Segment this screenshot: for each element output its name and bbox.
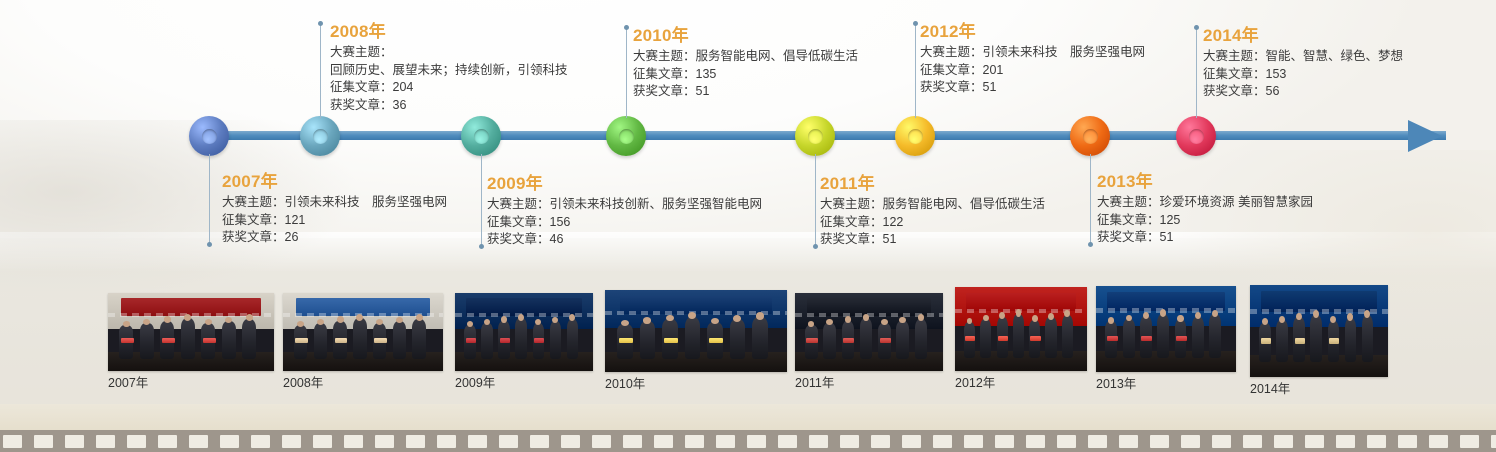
photo-certificate xyxy=(965,336,975,341)
photo-person xyxy=(412,319,426,359)
film-perforation xyxy=(1336,435,1355,448)
photo-certificate xyxy=(1295,338,1306,344)
photo-person xyxy=(1045,317,1056,357)
photo-people-group xyxy=(115,313,268,358)
entry-submission-count: 征集文章：204 xyxy=(330,79,568,97)
photo-person xyxy=(353,318,367,358)
timeline-entry-2008: 2008年大赛主题：回顾历史、展望未来；持续创新，引领科技征集文章：204获奖文… xyxy=(330,22,568,114)
film-perforation xyxy=(809,435,828,448)
timeline-entry-2009: 2009年大赛主题：引领未来科技创新、服务坚强智能电网征集文章：156获奖文章：… xyxy=(487,174,762,249)
entry-award-count: 获奖文章：51 xyxy=(920,79,1145,97)
film-perforation xyxy=(65,435,84,448)
photo-person xyxy=(1276,320,1288,362)
entry-year-label: 2014年 xyxy=(1203,26,1403,46)
timeline-node-2011[interactable] xyxy=(795,116,835,156)
gallery-caption: 2009年 xyxy=(455,376,593,391)
gallery-photo[interactable] xyxy=(1250,285,1388,377)
gallery-item-2014[interactable]: 2014年 xyxy=(1250,285,1388,397)
timeline-infographic: 2007年大赛主题：引领未来科技 服务坚强电网征集文章：121获奖文章：2620… xyxy=(0,0,1496,452)
film-perforation xyxy=(375,435,394,448)
leader-endpoint-dot xyxy=(479,244,484,249)
entry-theme-text: 大赛主题：智能、智慧、绿色、梦想 xyxy=(1203,48,1403,66)
film-perforation xyxy=(251,435,270,448)
photo-person xyxy=(1345,318,1357,362)
photo-certificate xyxy=(162,338,175,343)
entry-submission-count: 征集文章：201 xyxy=(920,62,1145,80)
photo-certificate xyxy=(1030,336,1040,341)
entry-theme-text: 大赛主题：引领未来科技 服务坚强电网 xyxy=(920,44,1145,62)
photo-person xyxy=(1157,314,1169,358)
film-perforation xyxy=(995,435,1014,448)
entry-year-label: 2010年 xyxy=(633,26,858,46)
film-perforation xyxy=(747,435,766,448)
timeline-node-2009[interactable] xyxy=(461,116,501,156)
gallery-photo[interactable] xyxy=(955,287,1087,371)
photo-person xyxy=(730,319,745,358)
timeline-node-2008[interactable] xyxy=(300,116,340,156)
timeline-entry-2010: 2010年大赛主题：服务智能电网、倡导低碳生活征集文章：135获奖文章：51 xyxy=(633,26,858,101)
photo-person xyxy=(752,317,767,359)
film-perforation xyxy=(964,435,983,448)
timeline-node-hole xyxy=(202,129,217,144)
timeline-node-2014[interactable] xyxy=(1176,116,1216,156)
photo-people-group xyxy=(960,309,1081,358)
timeline-entry-2014: 2014年大赛主题：智能、智慧、绿色、梦想征集文章：153获奖文章：56 xyxy=(1203,26,1403,101)
timeline-entry-2011: 2011年大赛主题：服务智能电网、倡导低碳生活征集文章：122获奖文章：51 xyxy=(820,174,1045,249)
timeline-entry-2007: 2007年大赛主题：引领未来科技 服务坚强电网征集文章：121获奖文章：26 xyxy=(222,172,447,247)
photo-certificate xyxy=(1176,336,1187,341)
leader-endpoint-dot xyxy=(207,242,212,247)
film-perforation xyxy=(313,435,332,448)
film-perforation xyxy=(902,435,921,448)
photo-people-group xyxy=(461,313,588,358)
photo-person xyxy=(640,321,655,359)
gallery-caption: 2010年 xyxy=(605,377,787,392)
photo-person xyxy=(1013,314,1024,357)
timeline-node-hole xyxy=(619,129,634,144)
film-perforation xyxy=(220,435,239,448)
entry-theme-text: 大赛主题：引领未来科技 服务坚强电网 xyxy=(222,194,447,212)
entry-award-count: 获奖文章：36 xyxy=(330,97,568,115)
gallery-caption: 2014年 xyxy=(1250,382,1388,397)
timeline-node-hole xyxy=(1189,129,1204,144)
leader-endpoint-dot xyxy=(813,244,818,249)
film-perforation xyxy=(1429,435,1448,448)
film-perforation xyxy=(1057,435,1076,448)
timeline-node-hole xyxy=(908,129,923,144)
film-perforation xyxy=(1026,435,1045,448)
entry-year-label: 2012年 xyxy=(920,22,1145,42)
photo-person xyxy=(222,321,236,359)
photo-certificate xyxy=(1141,336,1152,341)
photo-person xyxy=(915,319,928,359)
photo-person xyxy=(1192,317,1204,358)
photo-person xyxy=(860,318,873,358)
film-perforation xyxy=(561,435,580,448)
film-perforation xyxy=(592,435,611,448)
timeline-node-2012[interactable] xyxy=(895,116,935,156)
photo-certificate xyxy=(500,338,511,343)
film-perforation xyxy=(1460,435,1479,448)
film-perforation xyxy=(654,435,673,448)
timeline-arrow-icon xyxy=(1408,120,1442,152)
photo-certificate xyxy=(619,338,633,343)
gallery-photo[interactable] xyxy=(605,290,787,372)
film-perforation xyxy=(1398,435,1417,448)
film-perforation xyxy=(1088,435,1107,448)
photo-certificate xyxy=(1107,336,1118,341)
timeline-leader-line xyxy=(1090,154,1091,244)
gallery-caption: 2013年 xyxy=(1096,377,1236,392)
film-perforation xyxy=(1305,435,1324,448)
film-perforation xyxy=(189,435,208,448)
timeline-leader-line xyxy=(626,28,627,118)
photo-person xyxy=(550,321,562,359)
film-perforation xyxy=(282,435,301,448)
film-perforation xyxy=(1491,435,1496,448)
entry-submission-count: 征集文章：125 xyxy=(1097,212,1313,230)
timeline-node-hole xyxy=(1083,129,1098,144)
photo-people-group xyxy=(289,313,436,358)
photo-certificate xyxy=(1329,338,1340,344)
gallery-item-2010[interactable]: 2010年 xyxy=(605,290,787,392)
timeline-node-2007[interactable] xyxy=(189,116,229,156)
leader-endpoint-dot xyxy=(624,25,629,30)
entry-submission-count: 征集文章：135 xyxy=(633,66,858,84)
entry-theme-text: 大赛主题：珍爱环境资源 美丽智慧家园 xyxy=(1097,194,1313,212)
entry-submission-count: 征集文章：153 xyxy=(1203,66,1403,84)
leader-endpoint-dot xyxy=(318,21,323,26)
entry-award-count: 获奖文章：51 xyxy=(820,231,1045,249)
entry-award-count: 获奖文章：51 xyxy=(1097,229,1313,247)
gallery-caption: 2012年 xyxy=(955,376,1087,391)
timeline-entry-2012: 2012年大赛主题：引领未来科技 服务坚强电网征集文章：201获奖文章：51 xyxy=(920,22,1145,97)
photo-certificate xyxy=(374,338,386,343)
entry-award-count: 获奖文章：56 xyxy=(1203,83,1403,101)
film-perforation xyxy=(158,435,177,448)
gallery-photo[interactable] xyxy=(108,293,274,371)
gallery-caption: 2008年 xyxy=(283,376,443,391)
film-perforation xyxy=(499,435,518,448)
film-perforation xyxy=(406,435,425,448)
film-perforation xyxy=(778,435,797,448)
photo-person xyxy=(823,323,836,359)
timeline-node-hole xyxy=(808,129,823,144)
film-perforation xyxy=(623,435,642,448)
entry-submission-count: 征集文章：122 xyxy=(820,214,1045,232)
gallery-item-2009[interactable]: 2009年 xyxy=(455,293,593,391)
photo-person xyxy=(1362,315,1374,362)
entry-year-label: 2009年 xyxy=(487,174,762,194)
leader-endpoint-dot xyxy=(913,21,918,26)
gallery-item-2013[interactable]: 2013年 xyxy=(1096,286,1236,392)
photo-certificate xyxy=(664,338,678,343)
photo-person xyxy=(1310,315,1322,362)
film-perforation xyxy=(3,435,22,448)
photo-person xyxy=(314,323,328,359)
film-perforation xyxy=(468,435,487,448)
film-perforation xyxy=(127,435,146,448)
photo-person xyxy=(181,318,195,358)
timeline-leader-line xyxy=(209,154,210,244)
entry-theme-text: 大赛主题：服务智能电网、倡导低碳生活 xyxy=(633,48,858,66)
timeline-node-2013[interactable] xyxy=(1070,116,1110,156)
entry-submission-count: 征集文章：156 xyxy=(487,214,762,232)
photo-certificate xyxy=(880,338,891,343)
gallery-photo[interactable] xyxy=(795,293,943,371)
gallery-photo[interactable] xyxy=(283,293,443,371)
photo-person xyxy=(393,321,407,359)
entry-submission-count: 征集文章：121 xyxy=(222,212,447,230)
photo-certificate xyxy=(295,338,307,343)
gallery-caption: 2007年 xyxy=(108,376,274,391)
gallery-item-2011[interactable]: 2011年 xyxy=(795,293,943,391)
photo-certificate xyxy=(806,338,817,343)
photo-person xyxy=(242,319,256,359)
entry-year-label: 2007年 xyxy=(222,172,447,192)
photo-certificate xyxy=(709,338,723,343)
photo-certificate xyxy=(203,338,216,343)
entry-year-label: 2011年 xyxy=(820,174,1045,194)
photo-certificate xyxy=(466,338,477,343)
gallery-item-2012[interactable]: 2012年 xyxy=(955,287,1087,391)
photo-person xyxy=(980,319,991,357)
gallery-photo[interactable] xyxy=(1096,286,1236,372)
gallery-item-2008[interactable]: 2008年 xyxy=(283,293,443,391)
entry-year-label: 2008年 xyxy=(330,22,568,42)
photo-certificate xyxy=(1261,338,1272,344)
entry-theme-text: 大赛主题：引领未来科技创新、服务坚强智能电网 xyxy=(487,196,762,214)
entry-year-label: 2013年 xyxy=(1097,172,1313,192)
photo-person xyxy=(685,317,700,359)
photo-person xyxy=(1209,314,1221,358)
photo-certificate xyxy=(843,338,854,343)
photo-people-group xyxy=(612,311,779,359)
entry-award-count: 获奖文章：46 xyxy=(487,231,762,249)
leader-endpoint-dot xyxy=(1088,242,1093,247)
timeline-leader-line xyxy=(1196,28,1197,118)
film-perforation xyxy=(840,435,859,448)
timeline-node-2010[interactable] xyxy=(606,116,646,156)
gallery-item-2007[interactable]: 2007年 xyxy=(108,293,274,391)
film-perforation xyxy=(933,435,952,448)
film-perforation xyxy=(716,435,735,448)
background-sand-band xyxy=(0,404,1496,430)
timeline-leader-line xyxy=(915,24,916,118)
photo-people-group xyxy=(801,313,937,358)
entry-theme-label: 大赛主题： xyxy=(330,44,568,62)
film-perforation xyxy=(871,435,890,448)
film-perforation xyxy=(344,435,363,448)
photo-person xyxy=(515,318,527,358)
timeline-node-hole xyxy=(313,129,328,144)
photo-certificate xyxy=(335,338,347,343)
entry-award-count: 获奖文章：51 xyxy=(633,83,858,101)
film-perforation xyxy=(1274,435,1293,448)
timeline-leader-line xyxy=(320,24,321,118)
film-perforation xyxy=(1181,435,1200,448)
photo-person xyxy=(481,323,493,359)
photo-certificate xyxy=(121,338,134,343)
film-perforation xyxy=(1243,435,1262,448)
film-perforation xyxy=(96,435,115,448)
film-perforation xyxy=(1119,435,1138,448)
film-perforation xyxy=(34,435,53,448)
photo-people-group xyxy=(1102,308,1231,358)
film-perforation xyxy=(685,435,704,448)
photo-person xyxy=(567,319,579,359)
timeline-leader-line xyxy=(481,154,482,246)
photo-certificate xyxy=(534,338,545,343)
film-perforation xyxy=(530,435,549,448)
entry-theme-text: 回顾历史、展望未来；持续创新，引领科技 xyxy=(330,62,568,80)
entry-award-count: 获奖文章：26 xyxy=(222,229,447,247)
leader-endpoint-dot xyxy=(1194,25,1199,30)
photo-person xyxy=(1123,319,1135,358)
gallery-photo[interactable] xyxy=(455,293,593,371)
photo-people-group xyxy=(1256,309,1383,362)
photo-certificate xyxy=(998,336,1008,341)
photo-person xyxy=(1062,315,1073,358)
film-strip-border xyxy=(0,430,1496,452)
film-perforation xyxy=(1212,435,1231,448)
photo-person xyxy=(140,323,154,359)
timeline-entry-2013: 2013年大赛主题：珍爱环境资源 美丽智慧家园征集文章：125获奖文章：51 xyxy=(1097,172,1313,247)
timeline-leader-line xyxy=(815,154,816,246)
entry-theme-text: 大赛主题：服务智能电网、倡导低碳生活 xyxy=(820,196,1045,214)
film-perforation xyxy=(1367,435,1386,448)
film-perforation xyxy=(437,435,456,448)
film-perforation xyxy=(1150,435,1169,448)
timeline-node-hole xyxy=(474,129,489,144)
photo-person xyxy=(896,321,909,359)
gallery-caption: 2011年 xyxy=(795,376,943,391)
